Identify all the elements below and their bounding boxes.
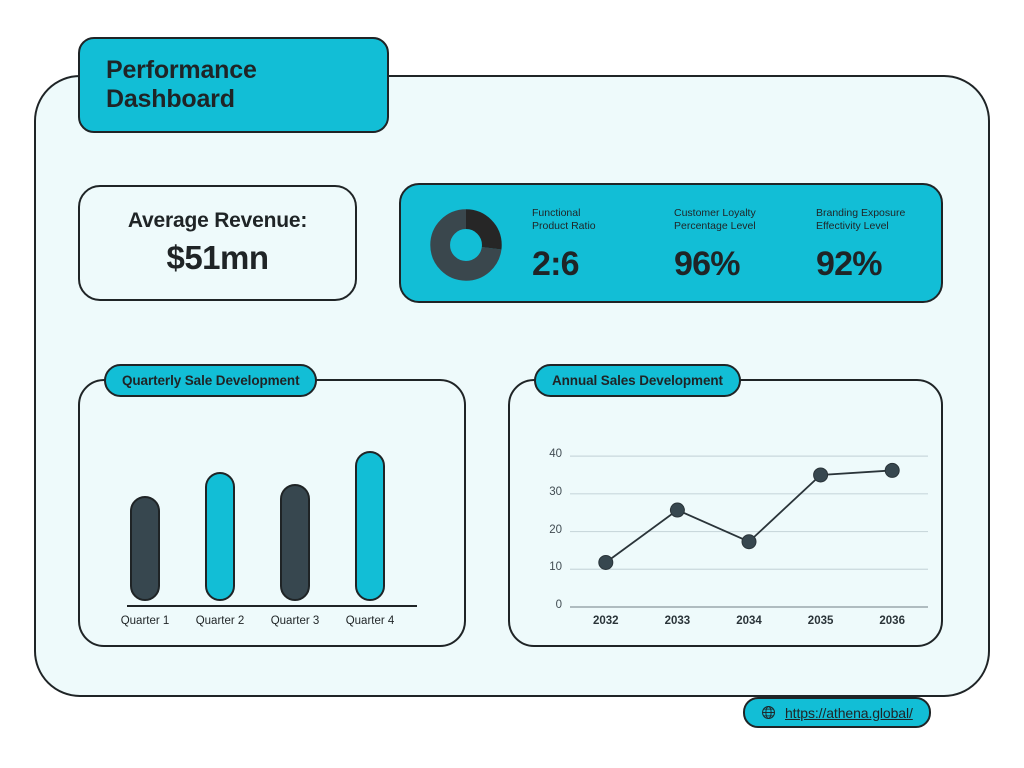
page-title: Performance Dashboard bbox=[106, 56, 257, 115]
kpi-value: 92% bbox=[816, 247, 956, 281]
donut-chart-icon bbox=[428, 207, 504, 283]
kpi-label: Functional Product Ratio bbox=[532, 207, 672, 234]
data-point bbox=[885, 463, 899, 477]
kpi-label: Branding Exposure Effectivity Level bbox=[816, 207, 956, 234]
line-chart-markers bbox=[599, 463, 899, 569]
annual-sales-chart-card: 010203040 20322033203420352036 bbox=[508, 379, 943, 647]
average-revenue-card: Average Revenue: $51mn bbox=[78, 185, 357, 301]
kpi-item-branding-exposure: Branding Exposure Effectivity Level 92% bbox=[816, 207, 956, 281]
data-point bbox=[599, 555, 613, 569]
bar-chart-baseline bbox=[127, 605, 417, 607]
globe-icon bbox=[761, 705, 776, 720]
x-tick-label: 2032 bbox=[576, 615, 636, 627]
bar-quarter-2 bbox=[205, 472, 235, 601]
kpi-item-customer-loyalty: Customer Loyalty Percentage Level 96% bbox=[674, 207, 814, 281]
bar-quarter-3 bbox=[280, 484, 310, 601]
quarterly-sale-chart-card: Quarter 1 Quarter 2 Quarter 3 Quarter 4 bbox=[78, 379, 466, 647]
quarterly-sale-chart-title: Quarterly Sale Development bbox=[122, 373, 299, 388]
kpi-value: 96% bbox=[674, 247, 814, 281]
y-tick-label: 30 bbox=[536, 486, 562, 498]
bar-label-quarter-4: Quarter 4 bbox=[333, 615, 407, 627]
average-revenue-label: Average Revenue: bbox=[128, 209, 307, 233]
average-revenue-value: $51mn bbox=[166, 239, 268, 277]
y-tick-label: 0 bbox=[536, 599, 562, 611]
data-point bbox=[742, 535, 756, 549]
line-chart-plot bbox=[510, 381, 945, 649]
data-point bbox=[814, 468, 828, 482]
kpi-item-functional-product-ratio: Functional Product Ratio 2:6 bbox=[532, 207, 672, 281]
quarterly-sale-chart-title-badge: Quarterly Sale Development bbox=[104, 364, 317, 397]
line-chart-gridlines bbox=[570, 456, 928, 607]
page-title-badge: Performance Dashboard bbox=[78, 37, 389, 133]
website-url-badge[interactable]: https://athena.global/ bbox=[743, 697, 931, 728]
y-tick-label: 10 bbox=[536, 561, 562, 573]
kpi-value: 2:6 bbox=[532, 247, 672, 281]
kpi-label: Customer Loyalty Percentage Level bbox=[674, 207, 814, 234]
bar-label-quarter-1: Quarter 1 bbox=[108, 615, 182, 627]
x-tick-label: 2033 bbox=[647, 615, 707, 627]
dashboard-infographic: Performance Dashboard Average Revenue: $… bbox=[0, 0, 1024, 768]
y-tick-label: 20 bbox=[536, 524, 562, 536]
x-tick-label: 2035 bbox=[791, 615, 851, 627]
bar-chart-plot: Quarter 1 Quarter 2 Quarter 3 Quarter 4 bbox=[80, 381, 464, 645]
bar-label-quarter-2: Quarter 2 bbox=[183, 615, 257, 627]
website-url-text: https://athena.global/ bbox=[785, 705, 913, 721]
annual-sales-chart-title: Annual Sales Development bbox=[552, 373, 723, 388]
annual-sales-chart-title-badge: Annual Sales Development bbox=[534, 364, 741, 397]
y-tick-label: 40 bbox=[536, 448, 562, 460]
x-tick-label: 2034 bbox=[719, 615, 779, 627]
data-point bbox=[670, 503, 684, 517]
kpi-panel: Functional Product Ratio 2:6 Customer Lo… bbox=[399, 183, 943, 303]
bar-label-quarter-3: Quarter 3 bbox=[258, 615, 332, 627]
x-tick-label: 2036 bbox=[862, 615, 922, 627]
bar-quarter-1 bbox=[130, 496, 160, 601]
bar-quarter-4 bbox=[355, 451, 385, 601]
